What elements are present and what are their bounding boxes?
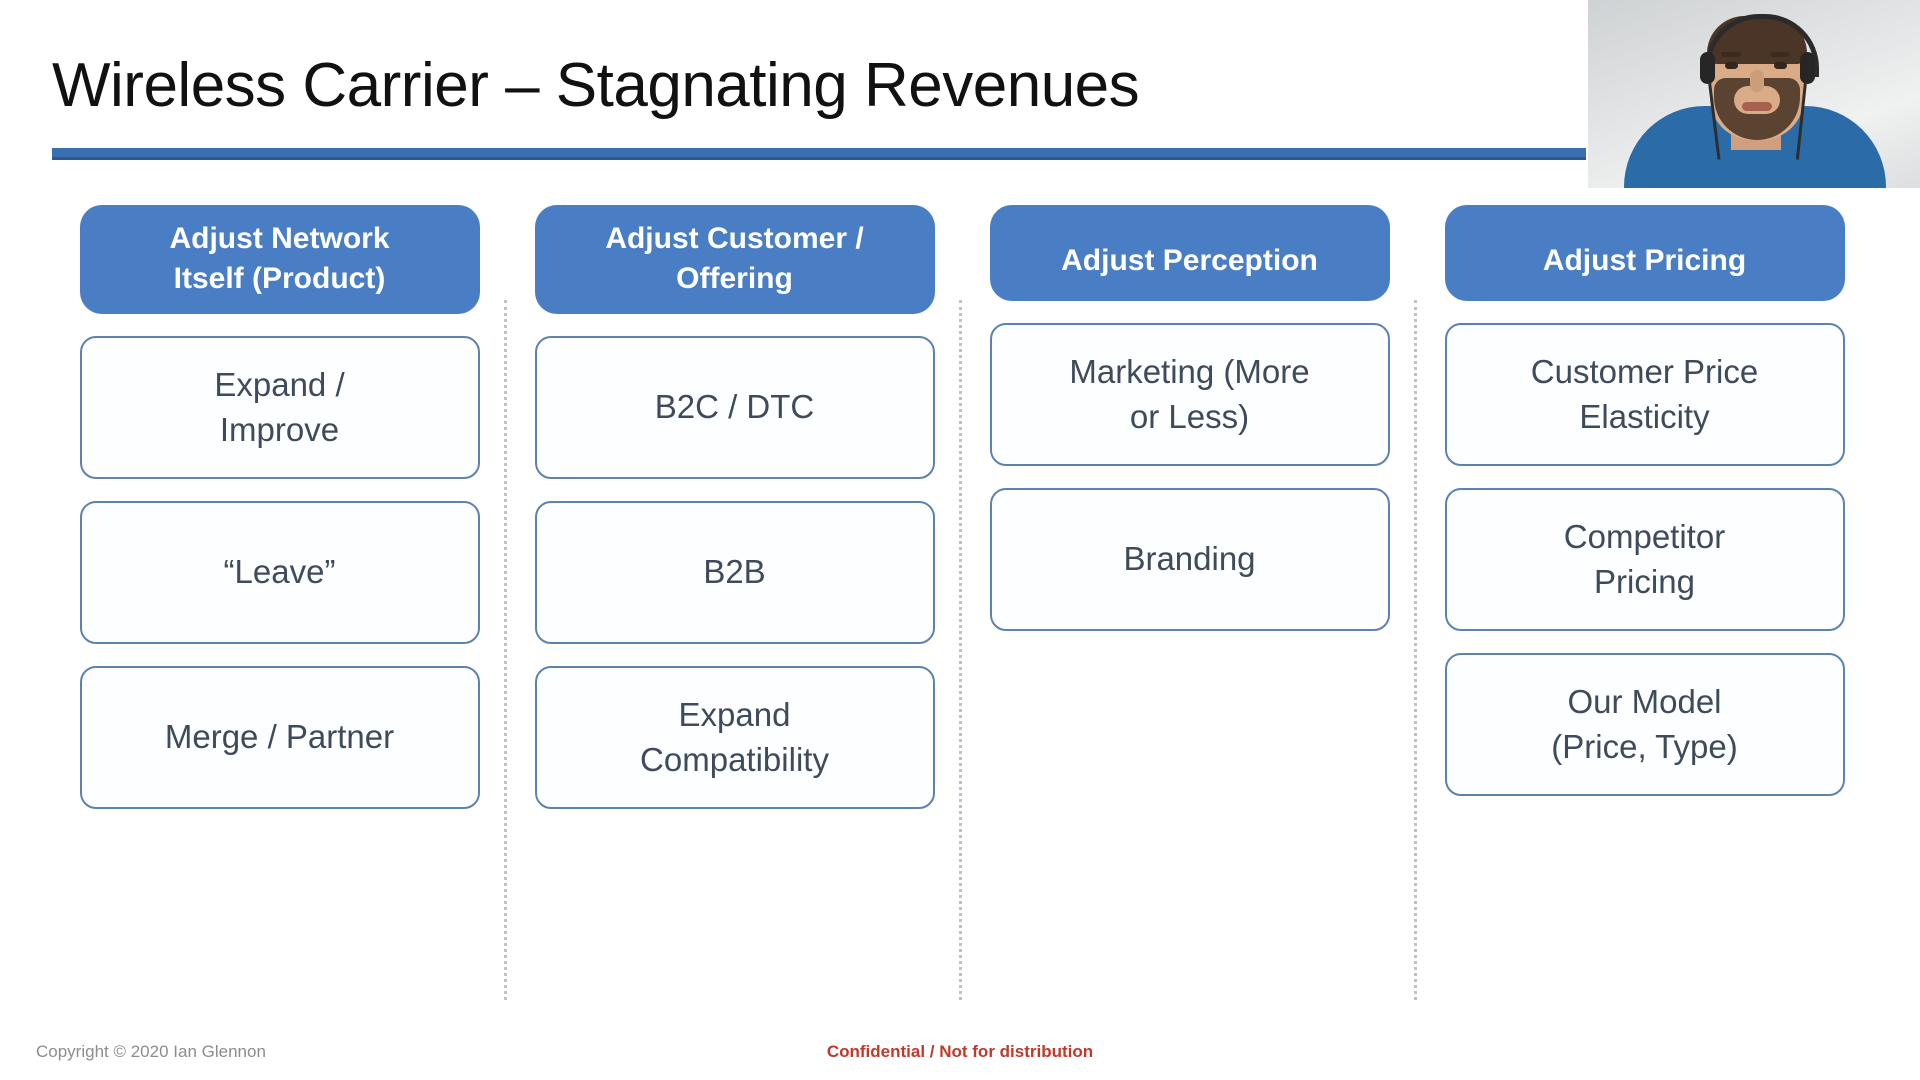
presenter-video-overlay[interactable] (1586, 0, 1920, 188)
item-box[interactable]: Expand Compatibility (535, 666, 935, 809)
column-header-2-line1: Adjust Customer / (605, 219, 863, 259)
column-adjust-perception: Adjust Perception Marketing (More or Les… (962, 205, 1417, 995)
item-line1: Competitor (1564, 515, 1725, 560)
item-box[interactable]: Merge / Partner (80, 666, 480, 809)
column-header-3-line1: Adjust Perception (1061, 241, 1318, 281)
column-header-1-line2: Itself (Product) (169, 259, 389, 299)
column-adjust-pricing: Adjust Pricing Customer Price Elasticity… (1417, 205, 1872, 995)
item-line1: Branding (1123, 537, 1255, 582)
item-line1: B2C / DTC (655, 385, 815, 430)
column-1-items: Expand / Improve “Leave” Merge / Partner (80, 336, 480, 809)
headset-earcup-left-icon (1700, 52, 1715, 84)
framework-columns: Adjust Network Itself (Product) Expand /… (52, 205, 1870, 995)
column-adjust-customer-offering: Adjust Customer / Offering B2C / DTC B2B (507, 205, 962, 995)
presenter-mouth (1742, 102, 1772, 111)
column-header-3: Adjust Perception (990, 205, 1390, 301)
column-3-items: Marketing (More or Less) Branding (990, 323, 1390, 631)
item-box[interactable]: Customer Price Elasticity (1445, 323, 1845, 466)
column-header-4: Adjust Pricing (1445, 205, 1845, 301)
item-box[interactable]: Our Model (Price, Type) (1445, 653, 1845, 796)
item-box[interactable]: Expand / Improve (80, 336, 480, 479)
item-line1: Merge / Partner (165, 715, 394, 760)
item-box[interactable]: B2C / DTC (535, 336, 935, 479)
item-box[interactable]: Branding (990, 488, 1390, 631)
item-line2: Elasticity (1531, 395, 1758, 440)
item-box[interactable]: Competitor Pricing (1445, 488, 1845, 631)
column-header-4-line1: Adjust Pricing (1543, 241, 1746, 281)
presentation-slide: Wireless Carrier – Stagnating Revenues A… (0, 0, 1920, 1080)
item-line1: B2B (703, 550, 765, 595)
item-line1: Expand (640, 693, 829, 738)
item-line1: “Leave” (224, 550, 336, 595)
item-line2: (Price, Type) (1551, 725, 1737, 770)
item-line2: Compatibility (640, 738, 829, 783)
item-box[interactable]: B2B (535, 501, 935, 644)
column-2-items: B2C / DTC B2B Expand Compatibility (535, 336, 935, 809)
column-header-1-line1: Adjust Network (169, 219, 389, 259)
item-line2: Pricing (1564, 560, 1725, 605)
item-line1: Expand / (214, 363, 344, 408)
item-box[interactable]: “Leave” (80, 501, 480, 644)
column-header-2: Adjust Customer / Offering (535, 205, 935, 314)
item-line2: Improve (214, 408, 344, 453)
item-line1: Our Model (1551, 680, 1737, 725)
item-line2: or Less) (1069, 395, 1309, 440)
column-header-2-line2: Offering (605, 259, 863, 299)
footer-confidential-notice: Confidential / Not for distribution (0, 1042, 1920, 1062)
item-line1: Customer Price (1531, 350, 1758, 395)
item-box[interactable]: Marketing (More or Less) (990, 323, 1390, 466)
page-title: Wireless Carrier – Stagnating Revenues (52, 52, 1552, 120)
column-4-items: Customer Price Elasticity Competitor Pri… (1445, 323, 1845, 796)
column-adjust-network: Adjust Network Itself (Product) Expand /… (52, 205, 507, 995)
column-header-1: Adjust Network Itself (Product) (80, 205, 480, 314)
item-line1: Marketing (More (1069, 350, 1309, 395)
headset-earcup-right-icon (1800, 52, 1815, 84)
